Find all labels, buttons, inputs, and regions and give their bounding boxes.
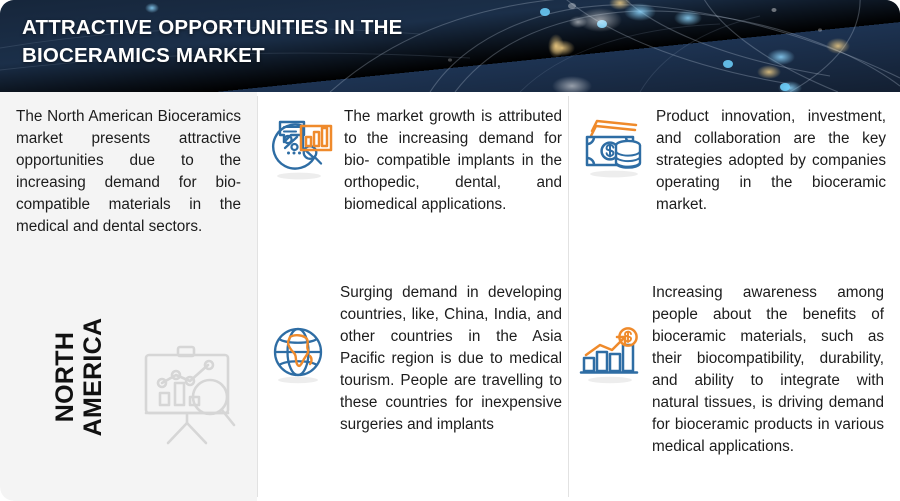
cell-text: Surging demand in developing countries, …: [340, 282, 562, 436]
cell-text: The market growth is attributed to the i…: [344, 106, 562, 216]
globe-icon: [262, 320, 334, 398]
page-title: ATTRACTIVE OPPORTUNITIES IN THE BIOCERAM…: [22, 14, 642, 71]
region-paragraph: The North American Bioceramics market pr…: [16, 106, 241, 238]
cell-text: Product innovation, investment, and coll…: [656, 106, 886, 216]
header-banner: ATTRACTIVE OPPORTUNITIES IN THE BIOCERAM…: [0, 0, 900, 92]
growth-chart-dollar-icon: [574, 324, 646, 402]
investment-money-icon: [578, 106, 650, 184]
content-area: The North American Bioceramics market pr…: [0, 92, 900, 501]
column-divider-right: [568, 96, 569, 497]
cell-text: Increasing awareness among people about …: [652, 282, 884, 458]
region-branding: NORTH AMERICA: [10, 287, 257, 492]
market-analysis-icon: [266, 106, 338, 184]
presentation-board-chart-magnifier-icon: [134, 339, 246, 451]
region-panel: The North American Bioceramics market pr…: [0, 92, 257, 501]
column-divider-left: [257, 96, 258, 497]
region-label: NORTH AMERICA: [51, 282, 107, 472]
infographic-page: ATTRACTIVE OPPORTUNITIES IN THE BIOCERAM…: [0, 0, 900, 501]
